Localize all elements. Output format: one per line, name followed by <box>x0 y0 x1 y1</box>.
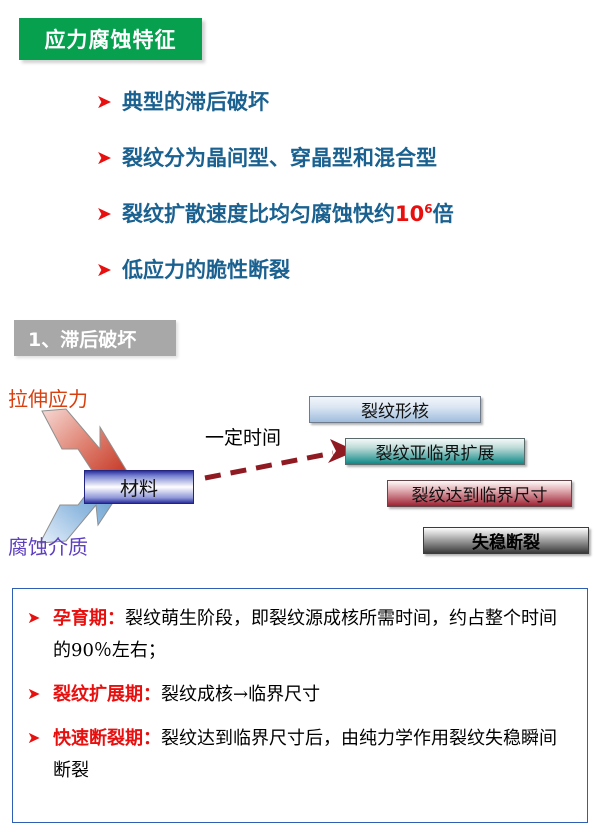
elapsed-time-label: 一定时间 <box>205 423 281 450</box>
note-text: 孕育期：裂纹萌生阶段，即裂纹源成核所需时间，约占整个时间的90％左右； <box>53 603 571 667</box>
bullet-text: 典型的滞后破坏 <box>122 88 269 116</box>
arrow-bullet-icon: ➤ <box>27 603 53 633</box>
stage-box-label: 裂纹亚临界扩展 <box>376 439 495 464</box>
tensile-stress-label: 拉伸应力 <box>8 383 88 412</box>
bullet-text: 裂纹扩散速度比均匀腐蚀快约106倍 <box>122 200 454 228</box>
arrow-bullet-icon: ➤ <box>96 88 122 116</box>
arrow-bullet-icon: ➤ <box>27 723 53 753</box>
bullet-highlight-exponent: 6 <box>424 202 432 216</box>
stage-box-subcritical-growth: 裂纹亚临界扩展 <box>345 438 525 465</box>
list-item: ➤ 裂纹扩展期：裂纹成核→临界尺寸 <box>27 679 571 711</box>
bullet-text-after: 倍 <box>433 202 454 226</box>
stage-box-unstable-fracture: 失稳断裂 <box>423 527 589 554</box>
stage-box-label: 裂纹达到临界尺寸 <box>412 481 548 506</box>
corrosive-medium-label: 腐蚀介质 <box>8 531 88 560</box>
slide-title-banner: 应力腐蚀特征 <box>19 18 202 60</box>
arrow-bullet-icon: ➤ <box>96 256 122 284</box>
material-box: 材料 <box>84 470 194 504</box>
list-item: ➤ 快速断裂期：裂纹达到临界尺寸后，由纯力学作用裂纹失稳瞬间断裂 <box>27 723 571 787</box>
list-item: ➤ 裂纹分为晶间型、穿晶型和混合型 <box>96 144 566 200</box>
arrow-bullet-icon: ➤ <box>96 200 122 228</box>
list-item: ➤ 裂纹扩散速度比均匀腐蚀快约106倍 <box>96 200 566 256</box>
stage-box-label: 失稳断裂 <box>472 528 540 553</box>
arrow-bullet-icon: ➤ <box>96 144 122 172</box>
section-header-banner: 1、滞后破坏 <box>14 320 176 356</box>
note-term: 快速断裂期： <box>53 728 161 749</box>
list-item: ➤ 典型的滞后破坏 <box>96 88 566 144</box>
note-text: 快速断裂期：裂纹达到临界尺寸后，由纯力学作用裂纹失稳瞬间断裂 <box>53 723 571 787</box>
note-text: 裂纹扩展期：裂纹成核→临界尺寸 <box>53 679 320 711</box>
stage-box-crack-nucleation: 裂纹形核 <box>309 396 481 423</box>
note-description: 裂纹成核→临界尺寸 <box>161 684 320 705</box>
arrow-bullet-icon: ➤ <box>27 679 53 709</box>
stage-box-critical-size: 裂纹达到临界尺寸 <box>387 480 572 507</box>
feature-bullet-list: ➤ 典型的滞后破坏 ➤ 裂纹分为晶间型、穿晶型和混合型 ➤ 裂纹扩散速度比均匀腐… <box>96 88 566 312</box>
note-term: 裂纹扩展期： <box>53 684 161 705</box>
bullet-text: 低应力的脆性断裂 <box>122 256 290 284</box>
section-header-text: 1、滞后破坏 <box>28 325 136 352</box>
bullet-text: 裂纹分为晶间型、穿晶型和混合型 <box>122 144 437 172</box>
bullet-highlight-base: 10 <box>395 202 424 226</box>
note-description: 裂纹萌生阶段，即裂纹源成核所需时间，约占整个时间的90％左右； <box>53 608 557 661</box>
note-term: 孕育期： <box>53 608 125 629</box>
stress-corrosion-diagram: 拉伸应力 腐蚀介质 一定时间 材料 裂纹形核 裂纹亚临界扩展 裂纹达到临界尺寸 … <box>0 375 600 575</box>
material-box-label: 材料 <box>120 474 158 501</box>
list-item: ➤ 孕育期：裂纹萌生阶段，即裂纹源成核所需时间，约占整个时间的90％左右； <box>27 603 571 667</box>
slide-title-text: 应力腐蚀特征 <box>45 24 177 54</box>
stage-definitions-box: ➤ 孕育期：裂纹萌生阶段，即裂纹源成核所需时间，约占整个时间的90％左右； ➤ … <box>12 588 588 823</box>
bullet-text-before: 裂纹扩散速度比均匀腐蚀快约 <box>122 202 395 226</box>
stage-box-label: 裂纹形核 <box>361 397 429 422</box>
list-item: ➤ 低应力的脆性断裂 <box>96 256 566 312</box>
